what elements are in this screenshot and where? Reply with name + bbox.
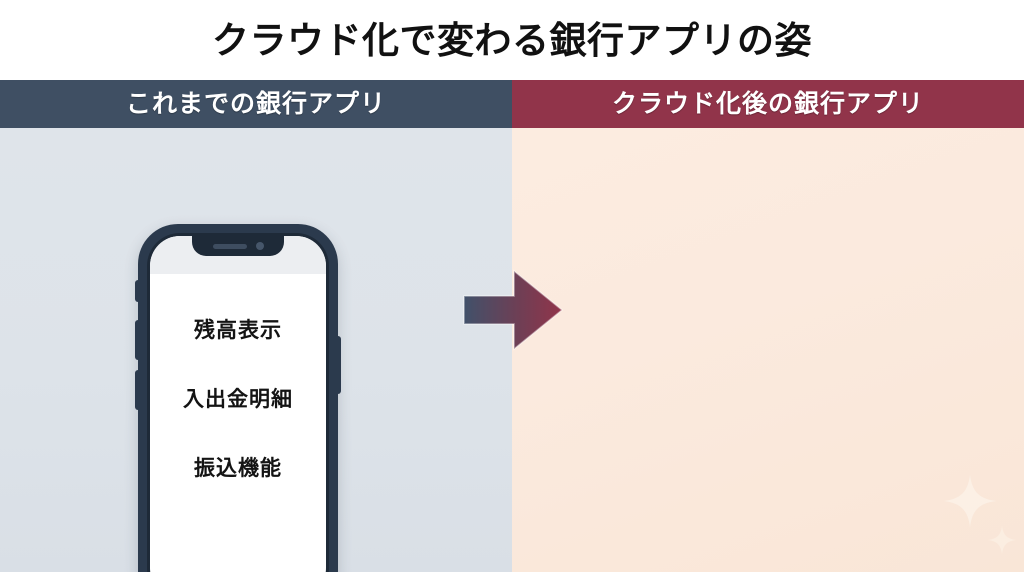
- panel-legacy-header-label: これまでの銀行アプリ: [126, 92, 386, 117]
- legacy-feature-list: 残高表示 入出金明細 振込機能: [150, 282, 326, 572]
- phone-notch: [192, 236, 284, 256]
- right-arrow-icon: [462, 268, 564, 352]
- phone-mockup-legacy: 残高表示 入出金明細 振込機能: [138, 224, 338, 572]
- panel-cloud: クラウド化後の銀行アプリ: [512, 80, 1024, 572]
- panel-cloud-header: クラウド化後の銀行アプリ: [512, 80, 1024, 128]
- phone-mute-button[interactable]: [135, 280, 139, 302]
- page-title: クラウド化で変わる銀行アプリの姿: [212, 22, 812, 59]
- slide-title-bar: クラウド化で変わる銀行アプリの姿: [0, 0, 1024, 80]
- panel-legacy-header: これまでの銀行アプリ: [0, 80, 512, 128]
- phone-volume-up-button[interactable]: [135, 320, 139, 360]
- phone-bezel: 残高表示 入出金明細 振込機能: [147, 233, 329, 572]
- slide-root: クラウド化で変わる銀行アプリの姿 これまでの銀行アプリ: [0, 0, 1024, 572]
- list-item[interactable]: 振込機能: [194, 458, 282, 479]
- panel-cloud-background: [512, 128, 1024, 572]
- panel-legacy: これまでの銀行アプリ 残高表示 入出金明細 振込機能: [0, 80, 512, 572]
- list-item[interactable]: 残高表示: [194, 320, 282, 341]
- list-item[interactable]: 入出金明細: [183, 389, 293, 410]
- transition-arrow: [462, 268, 564, 352]
- phone-screen-legacy: 残高表示 入出金明細 振込機能: [150, 236, 326, 572]
- speaker-bar-icon: [213, 244, 247, 249]
- camera-dot-icon: [256, 242, 264, 250]
- panel-cloud-header-label: クラウド化後の銀行アプリ: [612, 92, 924, 117]
- phone-volume-down-button[interactable]: [135, 370, 139, 410]
- phone-power-button[interactable]: [337, 336, 341, 394]
